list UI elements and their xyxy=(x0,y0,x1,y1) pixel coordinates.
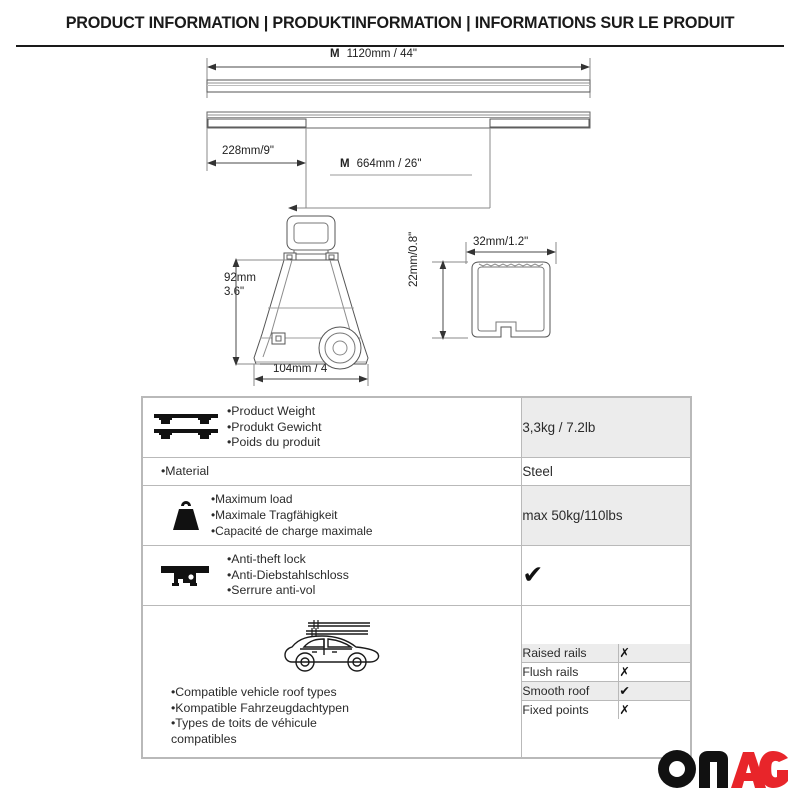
roof-option-value-fixed-points: ✗ xyxy=(619,701,690,720)
table-row: •Maximum load •Maximale Tragfähigkeit •C… xyxy=(143,486,691,546)
spec-value-material: Steel xyxy=(522,457,691,486)
label-line-de: •Kompatible Fahrzeugdachtypen xyxy=(171,701,349,715)
page-title: PRODUCT INFORMATION | PRODUKTINFORMATION… xyxy=(66,14,735,33)
label-line-fr: •Capacité de charge maximale xyxy=(211,524,372,538)
cross-mark-icon: ✗ xyxy=(619,646,629,660)
table-row: •Compatible vehicle roof types •Kompatib… xyxy=(143,605,691,757)
omac-logo-mark xyxy=(655,745,790,791)
spec-value-anti-theft-lock: ✔ xyxy=(522,546,691,606)
spec-label-text: •Product Weight •Produkt Gewicht •Poids … xyxy=(227,404,382,451)
omac-logo xyxy=(655,745,790,796)
spec-label-cell: •Maximum load •Maximale Tragfähigkeit •C… xyxy=(143,486,386,545)
roof-option-value-smooth-roof: ✔ xyxy=(619,682,690,701)
label-line-en: •Material xyxy=(161,464,209,478)
spec-label-text: •Material xyxy=(157,464,382,480)
drawing-svg xyxy=(0,46,800,386)
label-line-fr: •Serrure anti-vol xyxy=(227,583,315,597)
roof-option-row: Fixed points ✗ xyxy=(522,701,690,720)
table-row: •Anti-theft lock •Anti-Diebstahlschloss … xyxy=(143,546,691,606)
label-line-en: •Maximum load xyxy=(211,492,292,506)
spec-value-product-weight: 3,3kg / 7.2lb xyxy=(522,398,691,458)
label-line-de: •Maximale Tragfähigkeit xyxy=(211,508,337,522)
label-line-en: •Anti-theft lock xyxy=(227,552,306,566)
roof-types-table: Raised rails ✗ Flush rails ✗ Smooth roof xyxy=(522,644,690,719)
label-line-en: •Product Weight xyxy=(227,404,315,418)
spec-label-text: •Anti-theft lock •Anti-Diebstahlschloss … xyxy=(227,552,382,599)
check-mark-icon: ✔ xyxy=(522,561,543,589)
specification-table: •Product Weight •Produkt Gewicht •Poids … xyxy=(141,396,692,759)
roof-types-label-text: •Compatible vehicle roof types •Kompatib… xyxy=(149,685,349,747)
roof-option-name-smooth-roof: Smooth roof xyxy=(522,682,619,701)
check-mark-icon: ✔ xyxy=(619,684,629,698)
table-row: •Product Weight •Produkt Gewicht •Poids … xyxy=(143,398,691,458)
spec-label-cell: •Anti-theft lock •Anti-Diebstahlschloss … xyxy=(143,546,386,605)
roof-option-name-raised-rails: Raised rails xyxy=(522,644,619,663)
spec-value-maximum-load: max 50kg/110lbs xyxy=(522,486,691,546)
table-row: •Material Steel xyxy=(143,457,691,486)
roof-types-label-cell: •Compatible vehicle roof types •Kompatib… xyxy=(143,606,521,757)
roof-option-name-fixed-points: Fixed points xyxy=(522,701,619,720)
roof-option-value-flush-rails: ✗ xyxy=(619,663,690,682)
roof-option-name-flush-rails: Flush rails xyxy=(522,663,619,682)
roof-option-row: Raised rails ✗ xyxy=(522,644,690,663)
cross-mark-icon: ✗ xyxy=(619,665,629,679)
crossbars-icon xyxy=(149,410,223,444)
cross-mark-icon: ✗ xyxy=(619,703,629,717)
roof-option-value-raised-rails: ✗ xyxy=(619,644,690,663)
label-line-fr: •Poids du produit xyxy=(227,435,320,449)
lock-icon xyxy=(149,560,223,592)
spec-label-cell: •Product Weight •Produkt Gewicht •Poids … xyxy=(143,398,386,457)
label-line-de: •Anti-Diebstahlschloss xyxy=(227,568,349,582)
roof-option-row: Flush rails ✗ xyxy=(522,663,690,682)
technical-drawings: M1120mm / 44" 228mm/9" M664mm / 26" 92mm… xyxy=(0,46,800,386)
label-line-de: •Produkt Gewicht xyxy=(227,420,322,434)
spec-label-cell: •Material xyxy=(143,458,386,486)
label-line-en: •Compatible vehicle roof types xyxy=(171,685,337,699)
roof-option-row: Smooth roof ✔ xyxy=(522,682,690,701)
car-with-rack-icon xyxy=(272,614,392,681)
page-header: PRODUCT INFORMATION | PRODUKTINFORMATION… xyxy=(0,0,800,46)
label-line-fr: •Types de toits de véhicule xyxy=(171,716,317,730)
spec-label-text: •Maximum load •Maximale Tragfähigkeit •C… xyxy=(211,492,382,539)
label-line-fr-cont: compatibles xyxy=(171,732,237,746)
